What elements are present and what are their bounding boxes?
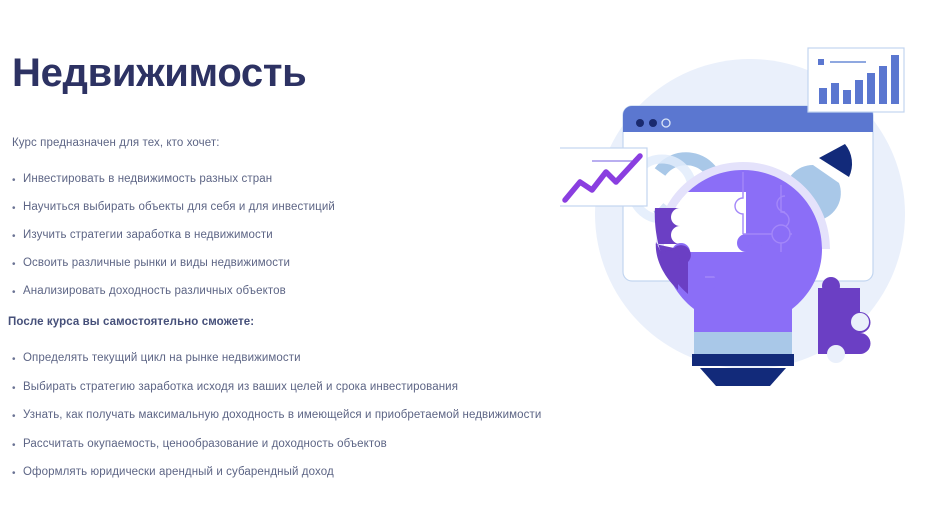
bullet-icon <box>12 437 23 451</box>
list-item-label: Рассчитать окупаемость, ценообразование … <box>23 437 387 451</box>
line-chart-card <box>560 148 647 206</box>
business-analytics-lightbulb-puzzle-illustration <box>560 22 927 402</box>
list-item: Узнать, как получать максимальную доходн… <box>12 408 572 437</box>
list-item: Анализировать доходность различных объек… <box>12 284 572 312</box>
list-item-label: Инвестировать в недвижимость разных стра… <box>23 172 272 186</box>
list-item: Освоить различные рынки и виды недвижимо… <box>12 256 572 284</box>
bullet-icon <box>12 408 23 422</box>
page-title: Недвижимость <box>12 50 306 96</box>
list-item: Инвестировать в недвижимость разных стра… <box>12 172 572 200</box>
bullet-icon <box>12 465 23 479</box>
list-item-label: Оформлять юридически арендный и субаренд… <box>23 465 334 479</box>
list-item-label: Анализировать доходность различных объек… <box>23 284 286 298</box>
bullet-icon <box>12 284 23 298</box>
bullet-icon <box>12 172 23 186</box>
audience-list: Инвестировать в недвижимость разных стра… <box>12 172 572 312</box>
list-item-label: Определять текущий цикл на рынке недвижи… <box>23 351 301 365</box>
list-item: Рассчитать окупаемость, ценообразование … <box>12 437 572 466</box>
list-item: Выбирать стратегию заработка исходя из в… <box>12 380 572 409</box>
bullet-icon <box>12 228 23 242</box>
bullet-icon <box>12 351 23 365</box>
list-item: Определять текущий цикл на рынке недвижи… <box>12 351 572 380</box>
list-item-label: Выбирать стратегию заработка исходя из в… <box>23 380 458 394</box>
outcomes-list: Определять текущий цикл на рынке недвижи… <box>12 351 572 494</box>
section-heading-outcomes: После курса вы самостоятельно сможете: <box>8 316 254 328</box>
list-item-label: Научиться выбирать объекты для себя и дл… <box>23 200 335 214</box>
list-item-label: Узнать, как получать максимальную доходн… <box>23 408 541 422</box>
list-item-label: Освоить различные рынки и виды недвижимо… <box>23 256 290 270</box>
list-item: Изучить стратегии заработка в недвижимос… <box>12 228 572 256</box>
content-column: Недвижимость Курс предназначен для тех, … <box>0 0 580 509</box>
list-item-label: Изучить стратегии заработка в недвижимос… <box>23 228 273 242</box>
bar-chart-card <box>808 48 904 112</box>
bullet-icon <box>12 256 23 270</box>
bullet-icon <box>12 380 23 394</box>
bullet-icon <box>12 200 23 214</box>
intro-text: Курс предназначен для тех, кто хочет: <box>12 137 220 149</box>
list-item: Оформлять юридически арендный и субаренд… <box>12 465 572 494</box>
slide-root: Недвижимость Курс предназначен для тех, … <box>0 0 927 509</box>
list-item: Научиться выбирать объекты для себя и дл… <box>12 200 572 228</box>
